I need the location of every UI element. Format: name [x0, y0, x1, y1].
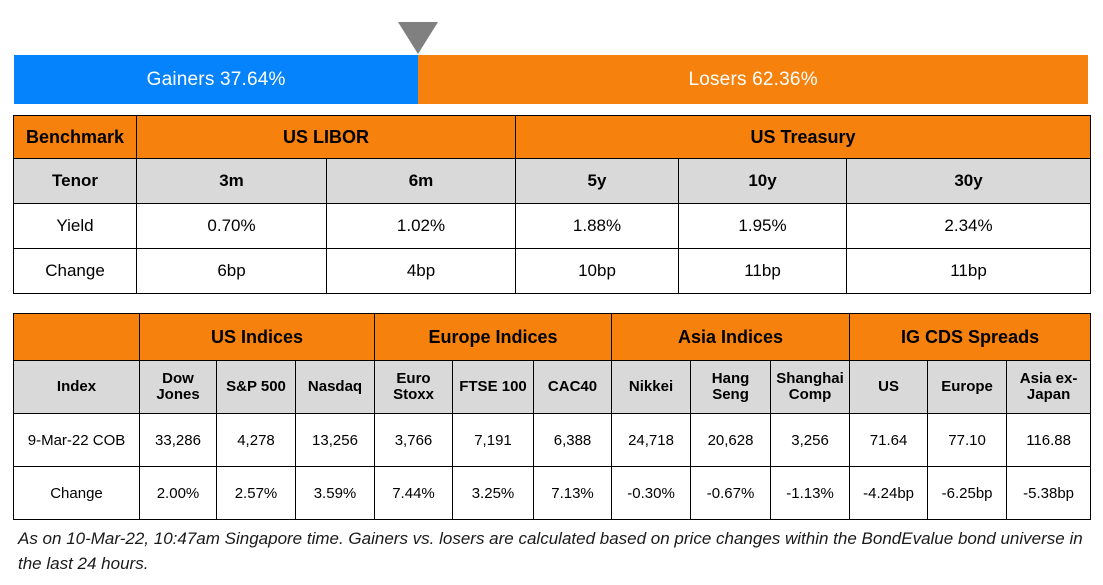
gainers-label: Gainers 37.64%	[147, 69, 286, 91]
group-header-asia-indices: Asia Indices	[612, 314, 850, 361]
change-row-label: Change	[14, 249, 137, 294]
losers-label: Losers 62.36%	[688, 69, 817, 91]
benchmark-header-cell: Benchmark	[14, 116, 137, 159]
change-cac40: 7.13%	[534, 467, 612, 520]
column-euro-stoxx: Euro Stoxx	[375, 361, 453, 414]
tenor-row-label: Tenor	[14, 159, 137, 204]
change-nasdaq: 3.59%	[296, 467, 375, 520]
column-shanghai-comp: Shanghai Comp	[771, 361, 850, 414]
column-sp-500: S&P 500	[217, 361, 296, 414]
values-row-label: 9-Mar-22 COB	[14, 414, 140, 467]
value-cac40: 6,388	[534, 414, 612, 467]
change-shanghai-comp: -1.13%	[771, 467, 850, 520]
losers-segment[interactable]: Losers 62.36%	[418, 55, 1088, 104]
indices-corner-cell	[14, 314, 140, 361]
yield-6m: 1.02%	[327, 204, 516, 249]
column-cds-us: US	[850, 361, 928, 414]
column-dow-jones: Dow Jones	[140, 361, 217, 414]
change-cds-europe: -6.25bp	[928, 467, 1007, 520]
value-ftse-100: 7,191	[453, 414, 534, 467]
change-cds-asia-ex-japan: -5.38bp	[1007, 467, 1091, 520]
value-nikkei: 24,718	[612, 414, 691, 467]
table-row-yield: Yield 0.70% 1.02% 1.88% 1.95% 2.34%	[14, 204, 1091, 249]
pointer-track	[14, 14, 1088, 56]
change-5y: 10bp	[516, 249, 679, 294]
table-row-group-header: Benchmark US LIBOR US Treasury	[14, 116, 1091, 159]
value-nasdaq: 13,256	[296, 414, 375, 467]
change-3m: 6bp	[137, 249, 327, 294]
change-6m: 4bp	[327, 249, 516, 294]
table-row-change: Change 2.00% 2.57% 3.59% 7.44% 3.25% 7.1…	[14, 467, 1091, 520]
footnote-text: As on 10-Mar-22, 10:47am Singapore time.…	[18, 527, 1083, 576]
change-euro-stoxx: 7.44%	[375, 467, 453, 520]
benchmark-rates-table: Benchmark US LIBOR US Treasury Tenor 3m …	[13, 115, 1091, 294]
change-nikkei: -0.30%	[612, 467, 691, 520]
yield-5y: 1.88%	[516, 204, 679, 249]
change-10y: 11bp	[679, 249, 847, 294]
yield-30y: 2.34%	[847, 204, 1091, 249]
column-cds-asia-ex-japan: Asia ex-Japan	[1007, 361, 1091, 414]
column-nasdaq: Nasdaq	[296, 361, 375, 414]
change-hang-seng: -0.67%	[691, 467, 771, 520]
change-30y: 11bp	[847, 249, 1091, 294]
split-bar: Gainers 37.64% Losers 62.36%	[14, 55, 1088, 104]
tenor-3m: 3m	[137, 159, 327, 204]
group-header-europe-indices: Europe Indices	[375, 314, 612, 361]
value-cds-europe: 77.10	[928, 414, 1007, 467]
table-row-change: Change 6bp 4bp 10bp 11bp 11bp	[14, 249, 1091, 294]
tenor-5y: 5y	[516, 159, 679, 204]
yield-10y: 1.95%	[679, 204, 847, 249]
table-row-column-headers: Index Dow Jones S&P 500 Nasdaq Euro Stox…	[14, 361, 1091, 414]
column-hang-seng: Hang Seng	[691, 361, 771, 414]
gainers-losers-bar: Gainers 37.64% Losers 62.36%	[14, 14, 1088, 104]
value-dow-jones: 33,286	[140, 414, 217, 467]
change-cds-us: -4.24bp	[850, 467, 928, 520]
change-row-label: Change	[14, 467, 140, 520]
column-cac40: CAC40	[534, 361, 612, 414]
down-triangle-marker-icon	[398, 22, 438, 54]
value-sp-500: 4,278	[217, 414, 296, 467]
column-ftse-100: FTSE 100	[453, 361, 534, 414]
change-sp-500: 2.57%	[217, 467, 296, 520]
table-row-group-header: US Indices Europe Indices Asia Indices I…	[14, 314, 1091, 361]
tenor-6m: 6m	[327, 159, 516, 204]
group-header-us-indices: US Indices	[140, 314, 375, 361]
indices-and-cds-table: US Indices Europe Indices Asia Indices I…	[13, 313, 1091, 520]
value-euro-stoxx: 3,766	[375, 414, 453, 467]
yield-3m: 0.70%	[137, 204, 327, 249]
group-header-us-treasury: US Treasury	[516, 116, 1091, 159]
gainers-segment[interactable]: Gainers 37.64%	[14, 55, 418, 104]
value-cds-asia-ex-japan: 116.88	[1007, 414, 1091, 467]
column-cds-europe: Europe	[928, 361, 1007, 414]
table-row-values: 9-Mar-22 COB 33,286 4,278 13,256 3,766 7…	[14, 414, 1091, 467]
value-cds-us: 71.64	[850, 414, 928, 467]
change-ftse-100: 3.25%	[453, 467, 534, 520]
value-hang-seng: 20,628	[691, 414, 771, 467]
table-row-tenor: Tenor 3m 6m 5y 10y 30y	[14, 159, 1091, 204]
dashboard-page: Gainers 37.64% Losers 62.36% Benchmark U…	[0, 0, 1103, 585]
tenor-10y: 10y	[679, 159, 847, 204]
yield-row-label: Yield	[14, 204, 137, 249]
column-nikkei: Nikkei	[612, 361, 691, 414]
group-header-us-libor: US LIBOR	[137, 116, 516, 159]
group-header-ig-cds-spreads: IG CDS Spreads	[850, 314, 1091, 361]
index-row-label: Index	[14, 361, 140, 414]
change-dow-jones: 2.00%	[140, 467, 217, 520]
tenor-30y: 30y	[847, 159, 1091, 204]
value-shanghai-comp: 3,256	[771, 414, 850, 467]
